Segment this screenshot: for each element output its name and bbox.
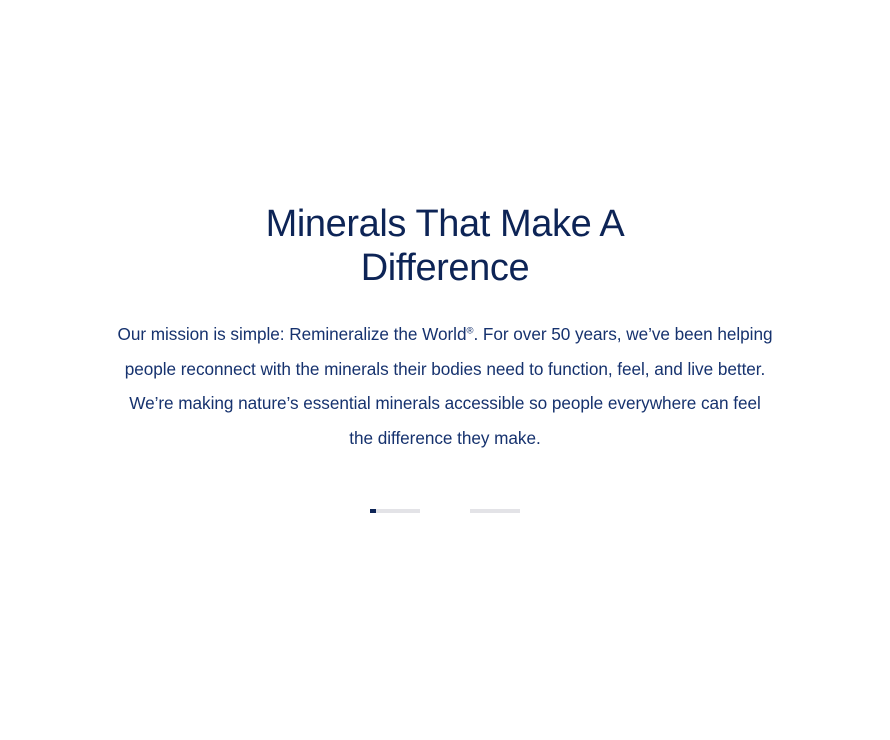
page-title: Minerals That Make A Difference (245, 202, 645, 290)
mission-hero-section: Minerals That Make A Difference Our miss… (0, 0, 890, 740)
carousel-pagination (370, 509, 520, 513)
page-root: Minerals That Make A Difference Our miss… (0, 0, 890, 740)
carousel-progress-fill-1 (370, 509, 376, 513)
mission-paragraph-lead: Our mission is simple: Remineralize the … (118, 324, 467, 344)
carousel-progress-bar-2[interactable] (470, 509, 520, 513)
mission-paragraph: Our mission is simple: Remineralize the … (117, 317, 773, 455)
carousel-progress-bar-1[interactable] (370, 509, 420, 513)
hero-content: Minerals That Make A Difference Our miss… (115, 202, 775, 513)
